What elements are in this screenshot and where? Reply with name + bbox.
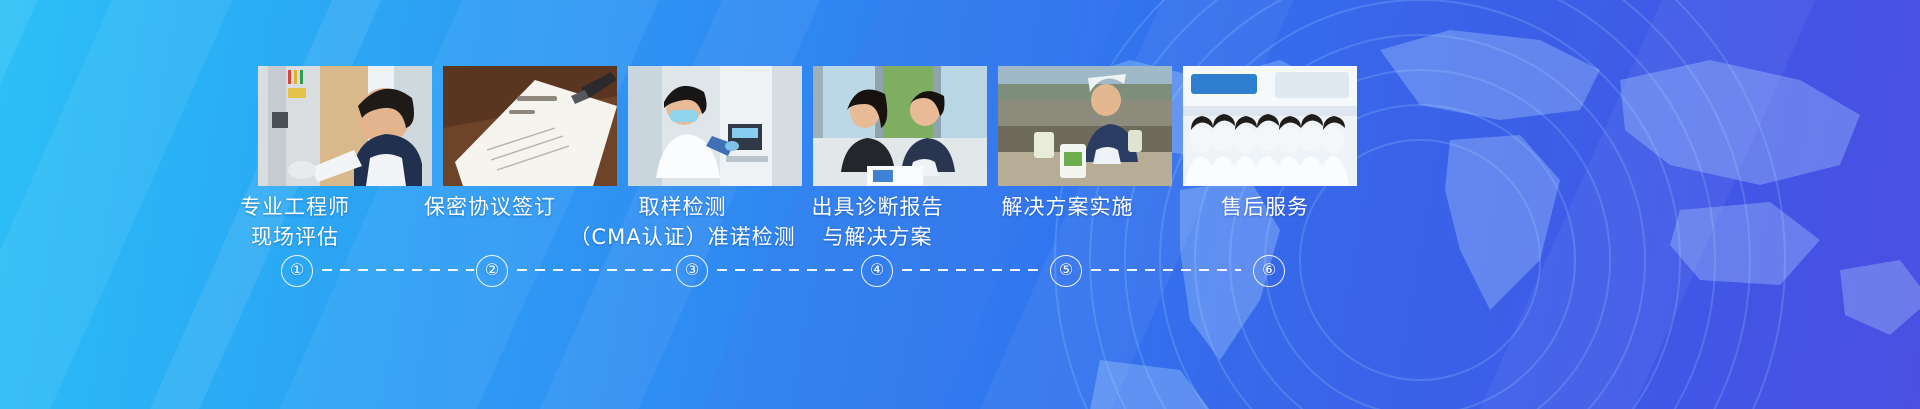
timeline-step-5[interactable]: ⑤ bbox=[1050, 255, 1082, 287]
process-label-5-line1: 解决方案实施 bbox=[1002, 195, 1134, 219]
process-photo-5[interactable] bbox=[998, 66, 1172, 186]
process-photo-row bbox=[258, 66, 1357, 186]
process-label-5: 解决方案实施 bbox=[975, 192, 1160, 222]
process-label-4-line2: 与解决方案 bbox=[785, 222, 970, 252]
timeline-step-4[interactable]: ④ bbox=[861, 255, 893, 287]
process-photo-1[interactable] bbox=[258, 66, 432, 186]
process-label-4-line1: 出具诊断报告 bbox=[812, 195, 944, 219]
timeline-step-1[interactable]: ① bbox=[281, 255, 313, 287]
process-label-1-line2: 现场评估 bbox=[215, 222, 375, 252]
timeline-connector-2 bbox=[517, 269, 672, 271]
timeline-step-6[interactable]: ⑥ bbox=[1253, 255, 1285, 287]
timeline-step-2[interactable]: ② bbox=[476, 255, 508, 287]
timeline-step-3[interactable]: ③ bbox=[676, 255, 708, 287]
process-label-3-line1: 取样检测 bbox=[639, 195, 727, 219]
process-label-6-line1: 售后服务 bbox=[1221, 195, 1309, 219]
process-label-6: 售后服务 bbox=[1175, 192, 1355, 222]
timeline-connector-1 bbox=[322, 269, 474, 271]
process-timeline: ① ② ③ ④ ⑤ ⑥ bbox=[0, 255, 1920, 295]
process-label-3: 取样检测 （CMA认证）准诺检测 bbox=[565, 192, 800, 252]
process-label-2-line1: 保密协议签订 bbox=[424, 195, 556, 219]
process-label-1-line1: 专业工程师 bbox=[240, 195, 350, 219]
process-label-1: 专业工程师 现场评估 bbox=[215, 192, 375, 252]
process-label-3-line2: （CMA认证）准诺检测 bbox=[565, 222, 800, 252]
process-label-row: 专业工程师 现场评估 保密协议签订 取样检测 （CMA认证）准诺检测 出具诊断报… bbox=[0, 192, 1920, 252]
timeline-connector-4 bbox=[902, 269, 1045, 271]
process-photo-4[interactable] bbox=[813, 66, 987, 186]
timeline-connector-5 bbox=[1091, 269, 1241, 271]
process-photo-2[interactable] bbox=[443, 66, 617, 186]
process-label-2: 保密协议签订 bbox=[395, 192, 585, 222]
process-photo-3[interactable] bbox=[628, 66, 802, 186]
timeline-connector-3 bbox=[717, 269, 857, 271]
process-label-4: 出具诊断报告 与解决方案 bbox=[785, 192, 970, 252]
process-photo-6[interactable] bbox=[1183, 66, 1357, 186]
process-banner: 专业工程师 现场评估 保密协议签订 取样检测 （CMA认证）准诺检测 出具诊断报… bbox=[0, 0, 1920, 409]
